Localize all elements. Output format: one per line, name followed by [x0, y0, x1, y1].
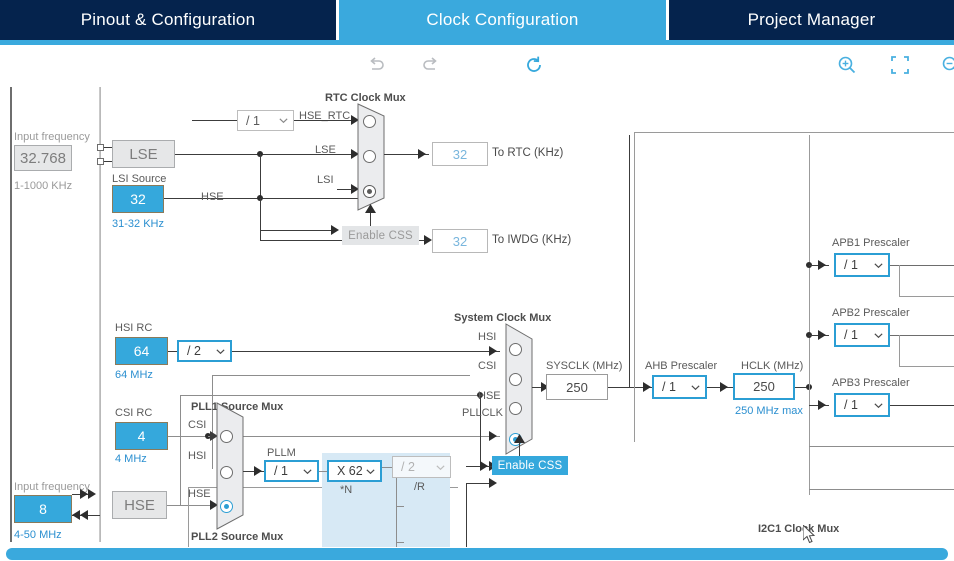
hsi-divider-value: / 2 [187, 344, 213, 358]
sys-mux-radio-hsi[interactable] [509, 343, 522, 356]
lsi-source-value: 32 [130, 191, 146, 207]
to-iwdg-value-box: 32 [432, 229, 488, 253]
arrow-hse-in-a [72, 510, 80, 520]
pll-mux-radio-hsi[interactable] [220, 466, 233, 479]
arrow-rtcmux-out [418, 149, 426, 159]
pll2-source-mux-title: PLL2 Source Mux [191, 531, 283, 543]
hsi-rc-unit: 64 MHz [115, 369, 153, 381]
sysclk-label: SYSCLK (MHz) [546, 360, 622, 372]
hse-input-frequency-value: 8 [39, 501, 47, 517]
hse-rtc-prescaler-value: / 1 [246, 114, 276, 128]
chevron-down-icon [215, 346, 226, 357]
clock-toolbar: Resolve Clock Issues [0, 45, 954, 85]
hse-rtc-input-label: HSE [201, 191, 224, 203]
tab-clock-label: Clock Configuration [426, 10, 578, 30]
arrow-pllclk-css [480, 461, 488, 471]
tab-clock-configuration[interactable]: Clock Configuration [339, 0, 666, 40]
csi-rc-field[interactable]: 4 [115, 422, 168, 450]
tab-pinout-label: Pinout & Configuration [81, 10, 256, 30]
tab-pinout-configuration[interactable]: Pinout & Configuration [0, 0, 336, 40]
lsi-range-label: 31-32 KHz [112, 218, 164, 230]
column-divider-1b [99, 87, 100, 542]
zoom-in-icon[interactable] [836, 54, 858, 76]
tab-project-manager-label: Project Manager [748, 10, 876, 30]
to-rtc-value: 32 [453, 147, 467, 162]
wire-hse-to-rtcdiv [192, 120, 237, 121]
csi-rc-title: CSI RC [115, 407, 152, 419]
wire-lsi-down [260, 198, 261, 240]
csi-rc-value: 4 [138, 428, 146, 444]
rtc-enable-css-label: Enable CSS [348, 230, 413, 242]
pllr-value: / 2 [401, 460, 433, 474]
horizontal-scrollbar[interactable] [0, 547, 954, 561]
to-rtc-label: To RTC (KHz) [492, 147, 563, 159]
wire-bus-lower-2 [809, 489, 954, 490]
arrow-pllmux-out [254, 466, 262, 476]
wire-hse-to-vertical [167, 505, 180, 506]
chevron-down-icon [435, 462, 446, 473]
wire-syscss-up [519, 441, 520, 456]
system-enable-css-button[interactable]: Enable CSS [492, 456, 568, 475]
canvas-left-border [10, 87, 12, 542]
wire-pll-to-p [396, 542, 404, 543]
pll-mux-input-hsi-label: HSI [188, 450, 206, 462]
system-clock-mux-title: System Clock Mux [454, 312, 551, 324]
lse-input-frequency-value: 32.768 [20, 150, 66, 167]
system-enable-css-label: Enable CSS [498, 460, 563, 472]
lsi-source-label: LSI Source [112, 173, 166, 185]
column-divider-1 [100, 87, 101, 542]
main-tabbar: Pinout & Configuration Clock Configurati… [0, 0, 954, 40]
hse-rtc-prescaler-combo[interactable]: / 1 [237, 110, 294, 131]
sys-mux-radio-csi[interactable] [509, 373, 522, 386]
arrow-lsi-to-iwdg [424, 235, 432, 245]
pllm-label: PLLM [267, 447, 296, 459]
csi-rc-unit: 4 MHz [115, 453, 147, 465]
pllr-combo[interactable]: / 2 [392, 456, 451, 478]
arrow-css-up [365, 204, 376, 213]
to-iwdg-label: To IWDG (KHz) [492, 234, 571, 246]
sys-mux-radio-hse[interactable] [509, 402, 522, 415]
wire-pll-to-q [396, 506, 404, 507]
sys-mux-input-csi-label: CSI [478, 360, 496, 372]
wire-sysclk-bus-up [629, 135, 630, 387]
chevron-down-icon [365, 466, 376, 477]
wire-pll-out-bus [396, 467, 397, 547]
hse-block-label: HSE [124, 497, 155, 514]
wire-hse-vertical [180, 395, 181, 505]
hsi-rc-field[interactable]: 64 [115, 337, 168, 365]
zoom-out-icon[interactable] [940, 54, 954, 76]
sysclk-value: 250 [566, 380, 588, 395]
lse-pin-bottom [97, 158, 104, 165]
hse-input-frequency-field[interactable]: 8 [14, 495, 72, 523]
pllr-sub-label: /R [414, 481, 425, 493]
to-iwdg-value: 32 [453, 234, 467, 249]
wire-lsi-mux-in [337, 189, 355, 190]
undo-icon[interactable] [366, 55, 386, 75]
wire-hse-to-sysmux [180, 395, 480, 396]
arrow-lse-to-css [331, 225, 339, 235]
pllm-combo[interactable]: / 1 [264, 460, 319, 482]
hsi-divider-combo[interactable]: / 2 [177, 340, 232, 362]
wire-pllclk-up [466, 483, 467, 547]
wire-hsi-to-sysmux [232, 351, 500, 352]
rtc-mux-radio-lsi[interactable] [363, 185, 376, 198]
hse-block[interactable]: HSE [112, 491, 167, 519]
lse-block-label: LSE [129, 146, 157, 163]
pll-mux-input-csi-label: CSI [188, 419, 206, 431]
lse-input-frequency-label: Input frequency [14, 131, 90, 143]
rtc-mux-input-lse-label: LSE [315, 144, 336, 156]
arrow-pllclk-sysmux [489, 478, 497, 488]
wire-lse-to-css [260, 230, 332, 231]
horizontal-scrollbar-thumb[interactable] [6, 548, 948, 560]
plln-sub-label: *N [340, 484, 352, 496]
hse-input-frequency-label: Input frequency [14, 481, 90, 493]
sys-mux-input-hsi-label: HSI [478, 331, 496, 343]
rtc-mux-radio-lse[interactable] [363, 150, 376, 163]
chevron-down-icon [302, 466, 313, 477]
arrow-csi-sysmux [489, 431, 497, 441]
arrow-hse-out-a [80, 489, 88, 499]
pll-mux-radio-csi[interactable] [220, 430, 233, 443]
wire-hsi-branch [212, 375, 470, 376]
i2c1-clock-mux-title: I2C1 Clock Mux [758, 523, 839, 535]
rtc-enable-css-button[interactable]: Enable CSS [342, 226, 419, 245]
sys-mux-input-hse-label: HSE [478, 390, 501, 402]
rtc-mux-input-lsi-label: LSI [317, 174, 334, 186]
lse-range-label: 1-1000 KHz [14, 180, 72, 192]
pllm-value: / 1 [274, 464, 300, 478]
wire-css-to-rtcmux [370, 211, 371, 226]
hsi-rc-title: HSI RC [115, 322, 152, 334]
hse-range-label: 4-50 MHz [14, 529, 62, 541]
peripheral-region-outline [634, 132, 954, 442]
clock-tree-canvas[interactable]: Input frequency 32.768 1-1000 KHz LSE LS… [0, 85, 954, 547]
lsi-source-field[interactable]: 32 [112, 185, 164, 213]
reset-clock-icon[interactable] [523, 54, 545, 76]
to-rtc-value-box: 32 [432, 142, 488, 166]
lse-input-frequency-field[interactable]: 32.768 [14, 145, 72, 171]
sys-mux-input-pllclk-label: PLLCLK [462, 407, 503, 419]
pll-mux-radio-hse[interactable] [220, 500, 233, 513]
redo-icon[interactable] [421, 55, 441, 75]
tab-project-manager[interactable]: Project Manager [669, 0, 954, 40]
arrow-hse-out-b [88, 489, 96, 499]
arrow-hsi-sysmux [489, 346, 497, 356]
fit-to-screen-icon[interactable] [889, 54, 911, 76]
lse-block[interactable]: LSE [112, 140, 175, 168]
pll-mux-input-hse-label: HSE [188, 488, 211, 500]
arrow-syscss-up [514, 434, 525, 443]
wire-hsi-down-to-pll [212, 375, 213, 469]
sysclk-value-box: 250 [546, 374, 608, 400]
rtc-mux-radio-hse-rtc[interactable] [363, 115, 376, 128]
plln-combo[interactable]: X 62 [327, 460, 382, 482]
arrow-hse-in-b [80, 510, 88, 520]
plln-value: X 62 [337, 464, 363, 478]
clock-configuration-screen: Pinout & Configuration Clock Configurati… [0, 0, 954, 561]
hsi-rc-value: 64 [134, 343, 150, 359]
lse-pin-top [97, 144, 104, 151]
wire-bus-lower-1 [809, 446, 954, 447]
chevron-down-icon [278, 115, 289, 126]
wire-hse-sys-down [480, 395, 481, 466]
